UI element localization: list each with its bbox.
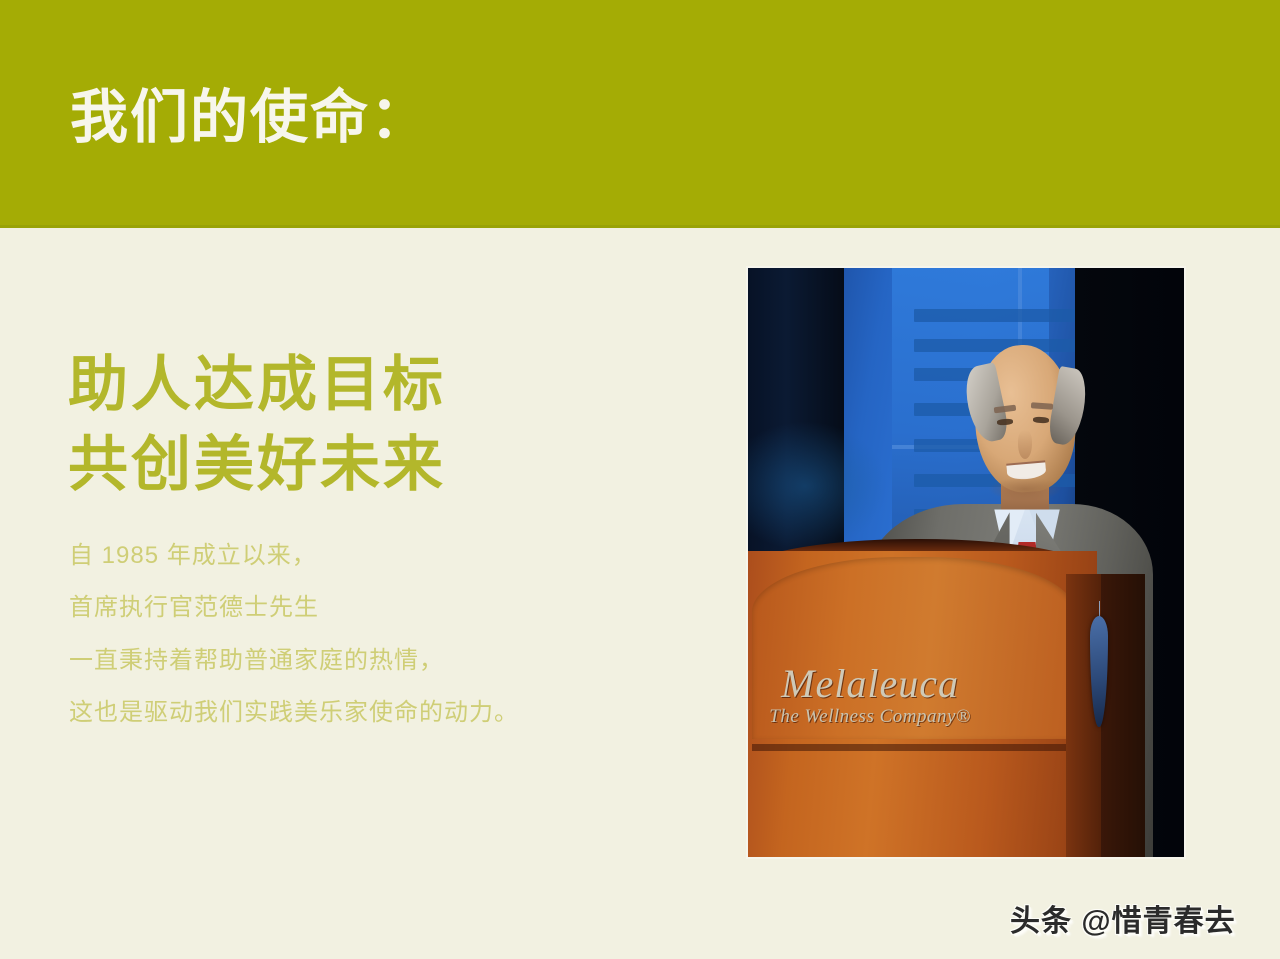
podium-shadow-right	[1101, 574, 1145, 857]
chin-shadow	[988, 477, 1062, 501]
body-line-1: 自 1985 年成立以来，	[69, 530, 519, 582]
ceo-photo-frame: Melaleuca The Wellness Company®	[746, 266, 1186, 859]
mission-body-text: 自 1985 年成立以来， 首席执行官范德士先生 一直秉持着帮助普通家庭的热情，…	[69, 530, 519, 739]
body-line-3: 一直秉持着帮助普通家庭的热情，	[69, 635, 519, 687]
slide-canvas: 我们的使命： 助人达成目标 共创美好未来 自 1985 年成立以来， 首席执行官…	[0, 0, 1280, 959]
melaleuca-logo-wordmark: Melaleuca	[757, 663, 984, 705]
podium-groove	[752, 744, 1075, 751]
ceo-photo: Melaleuca The Wellness Company®	[748, 268, 1184, 857]
mission-headline: 助人达成目标 共创美好未来	[68, 345, 446, 505]
melaleuca-logo: Melaleuca The Wellness Company®	[757, 663, 984, 727]
mission-headline-line-1: 助人达成目标	[68, 345, 446, 425]
melaleuca-logo-tagline: The Wellness Company®	[757, 707, 984, 727]
eye-right	[1033, 417, 1049, 424]
mission-headline-line-2: 共创美好未来	[68, 425, 446, 505]
body-line-4: 这也是驱动我们实践美乐家使命的动力。	[69, 687, 519, 739]
header-band: 我们的使命：	[0, 0, 1280, 228]
page-title: 我们的使命：	[70, 86, 430, 150]
watermark: 头条 @惜青春去	[1010, 896, 1236, 940]
body-line-2: 首席执行官范德士先生	[69, 582, 519, 634]
